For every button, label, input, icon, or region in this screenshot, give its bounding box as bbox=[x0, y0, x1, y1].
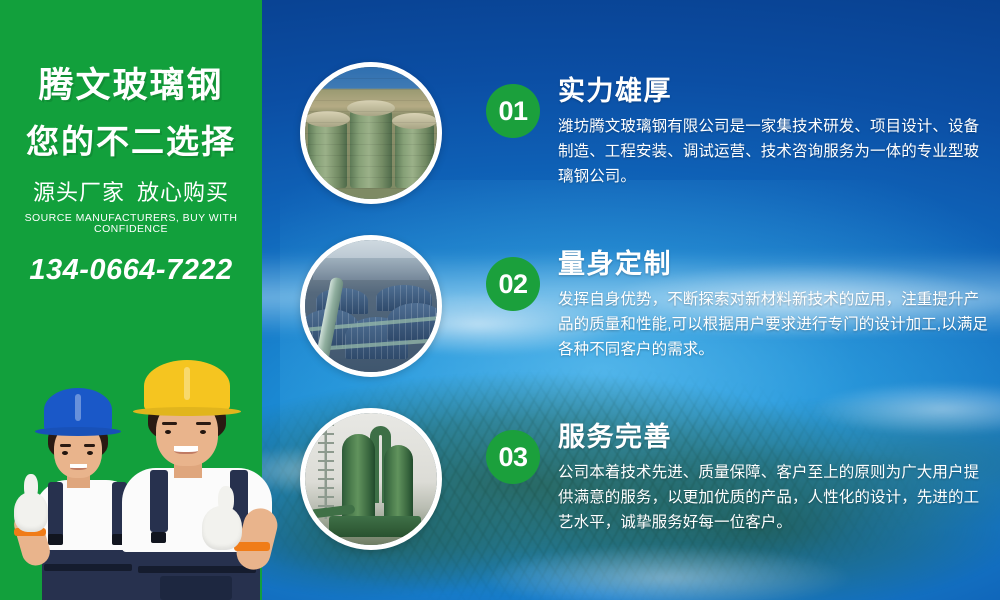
feature-title-2: 量身定制 bbox=[558, 249, 990, 280]
feature-text-3: 服务完善 公司本着技术先进、质量保障、客户至上的原则为广大用户提供满意的服务，以… bbox=[558, 408, 990, 535]
feature-title-1: 实力雄厚 bbox=[558, 76, 990, 107]
feature-title-3: 服务完善 bbox=[558, 422, 990, 453]
feature-item-1[interactable]: 01 实力雄厚 潍坊腾文玻璃钢有限公司是一家集技术研发、项目设计、设备制造、工程… bbox=[300, 62, 990, 204]
feature-text-2: 量身定制 发挥自身优势，不断探索对新材料新技术的应用，注重提升产品的质量和性能,… bbox=[558, 235, 990, 362]
promo-banner: 腾文玻璃钢 您的不二选择 源头厂家放心购买 SOURCE MANUFACTURE… bbox=[0, 0, 1000, 600]
green-scrubber-towers-photo bbox=[305, 413, 437, 545]
feature-text-1: 实力雄厚 潍坊腾文玻璃钢有限公司是一家集技术研发、项目设计、设备制造、工程安装、… bbox=[558, 62, 990, 189]
feature-photo-1 bbox=[300, 62, 442, 204]
feature-number-badge-1: 01 bbox=[486, 84, 540, 138]
feature-item-3[interactable]: 03 服务完善 公司本着技术先进、质量保障、客户至上的原则为广大用户提供满意的服… bbox=[300, 408, 990, 550]
feature-description-3: 公司本着技术先进、质量保障、客户至上的原则为广大用户提供满意的服务，以更加优质的… bbox=[558, 460, 990, 535]
green-frp-tanks-photo bbox=[305, 67, 437, 199]
feature-list: 01 实力雄厚 潍坊腾文玻璃钢有限公司是一家集技术研发、项目设计、设备制造、工程… bbox=[0, 0, 1000, 600]
feature-description-1: 潍坊腾文玻璃钢有限公司是一家集技术研发、项目设计、设备制造、工程安装、调试运营、… bbox=[558, 114, 990, 189]
feature-photo-3 bbox=[300, 408, 442, 550]
feature-item-2[interactable]: 02 量身定制 发挥自身优势，不断探索对新材料新技术的应用，注重提升产品的质量和… bbox=[300, 235, 990, 377]
blue-domed-tanks-photo bbox=[305, 240, 437, 372]
feature-number-badge-3: 03 bbox=[486, 430, 540, 484]
feature-number-badge-2: 02 bbox=[486, 257, 540, 311]
feature-description-2: 发挥自身优势，不断探索对新材料新技术的应用，注重提升产品的质量和性能,可以根据用… bbox=[558, 287, 990, 362]
feature-photo-2 bbox=[300, 235, 442, 377]
